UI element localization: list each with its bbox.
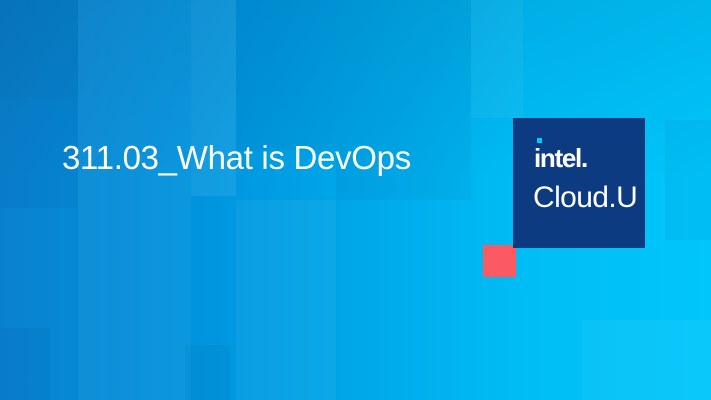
mosaic-tile <box>236 200 336 400</box>
intel-brand-text: intel <box>534 143 581 173</box>
intel-wordmark: intel. <box>534 145 587 171</box>
mosaic-tile <box>185 345 230 400</box>
mosaic-tile <box>582 320 711 400</box>
mosaic-tile <box>471 0 523 118</box>
mosaic-tile <box>0 328 50 400</box>
intel-i-dot-icon <box>537 138 542 143</box>
mosaic-tile <box>78 0 191 400</box>
cloudu-wordmark: Cloud.U <box>533 181 637 215</box>
red-accent-square <box>483 245 516 277</box>
mosaic-tile <box>0 0 78 98</box>
intel-period: . <box>581 143 587 173</box>
slide-title: 311.03_What is DevOps <box>62 138 411 178</box>
title-slide: 311.03_What is DevOps intel. Cloud.U <box>0 0 711 400</box>
intel-i-dot-wrapper: intel <box>534 145 581 171</box>
mosaic-tile <box>236 0 336 150</box>
intel-cloudu-logo: intel. Cloud.U <box>513 118 645 248</box>
mosaic-tile <box>665 120 711 240</box>
